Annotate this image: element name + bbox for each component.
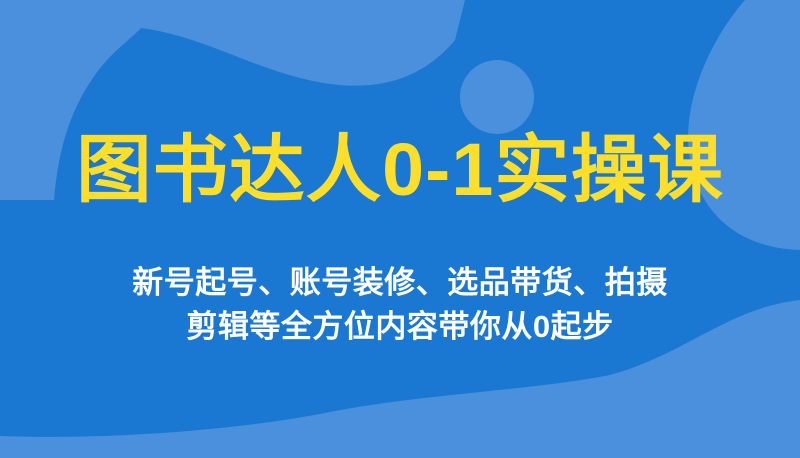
poster-content: 图书达人0-1实操课 新号起号、账号装修、选品带货、拍摄 剪辑等全方位内容带你从… [0,0,800,458]
subtitle-line-2: 剪辑等全方位内容带你从0起步 [0,306,800,348]
subtitle-line-1: 新号起号、账号装修、选品带货、拍摄 [0,262,800,304]
course-promo-poster: 图书达人0-1实操课 新号起号、账号装修、选品带货、拍摄 剪辑等全方位内容带你从… [0,0,800,458]
page-title: 图书达人0-1实操课 [0,128,800,212]
